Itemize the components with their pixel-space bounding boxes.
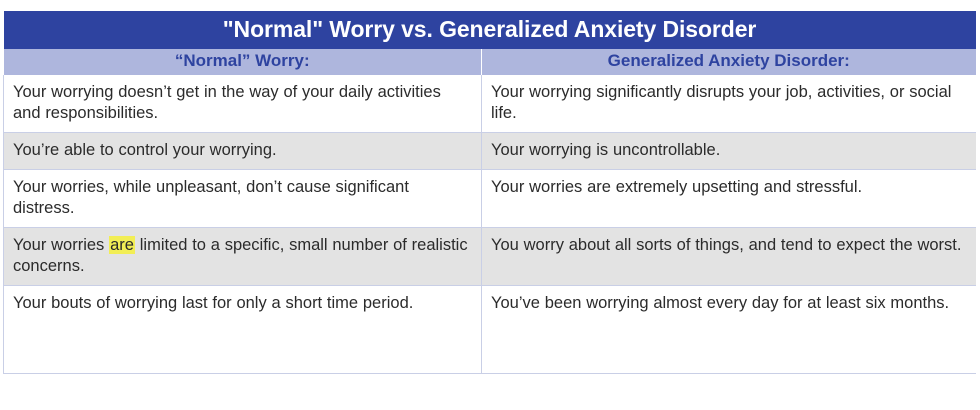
cell-normal-worry-5: Your bouts of worrying last for only a s… bbox=[4, 286, 482, 374]
cell-gad-1: Your worrying significantly disrupts you… bbox=[482, 75, 976, 133]
cell-normal-worry-4: Your worries are limited to a specific, … bbox=[4, 228, 482, 286]
top-margin bbox=[0, 0, 980, 11]
cell-normal-worry-2: You’re able to control your worrying. bbox=[4, 133, 482, 170]
comparison-table: "Normal" Worry vs. Generalized Anxiety D… bbox=[3, 11, 976, 374]
table-row: Your bouts of worrying last for only a s… bbox=[4, 286, 976, 374]
highlighted-word: are bbox=[109, 236, 135, 254]
column-header-row: “Normal” Worry: Generalized Anxiety Diso… bbox=[4, 49, 976, 75]
cell-gad-2: Your worrying is uncontrollable. bbox=[482, 133, 976, 170]
table-row: Your worries are limited to a specific, … bbox=[4, 228, 976, 286]
column-header-normal-worry: “Normal” Worry: bbox=[4, 49, 482, 75]
cell-text-before-highlight: Your worries bbox=[13, 236, 109, 254]
cell-gad-3: Your worries are extremely upsetting and… bbox=[482, 170, 976, 228]
table-row: You’re able to control your worrying. Yo… bbox=[4, 133, 976, 170]
comparison-table-container: "Normal" Worry vs. Generalized Anxiety D… bbox=[0, 11, 980, 374]
column-header-generalized-anxiety-disorder: Generalized Anxiety Disorder: bbox=[482, 49, 976, 75]
table-row: Your worrying doesn’t get in the way of … bbox=[4, 75, 976, 133]
cell-gad-4: You worry about all sorts of things, and… bbox=[482, 228, 976, 286]
table-header: "Normal" Worry vs. Generalized Anxiety D… bbox=[4, 11, 976, 75]
table-title: "Normal" Worry vs. Generalized Anxiety D… bbox=[4, 11, 976, 49]
table-body: Your worrying doesn’t get in the way of … bbox=[4, 75, 976, 374]
title-row: "Normal" Worry vs. Generalized Anxiety D… bbox=[4, 11, 976, 49]
cell-normal-worry-1: Your worrying doesn’t get in the way of … bbox=[4, 75, 482, 133]
table-row: Your worries, while unpleasant, don’t ca… bbox=[4, 170, 976, 228]
worksheet-page: "Normal" Worry vs. Generalized Anxiety D… bbox=[0, 0, 980, 410]
cell-normal-worry-3: Your worries, while unpleasant, don’t ca… bbox=[4, 170, 482, 228]
cell-gad-5: You’ve been worrying almost every day fo… bbox=[482, 286, 976, 374]
